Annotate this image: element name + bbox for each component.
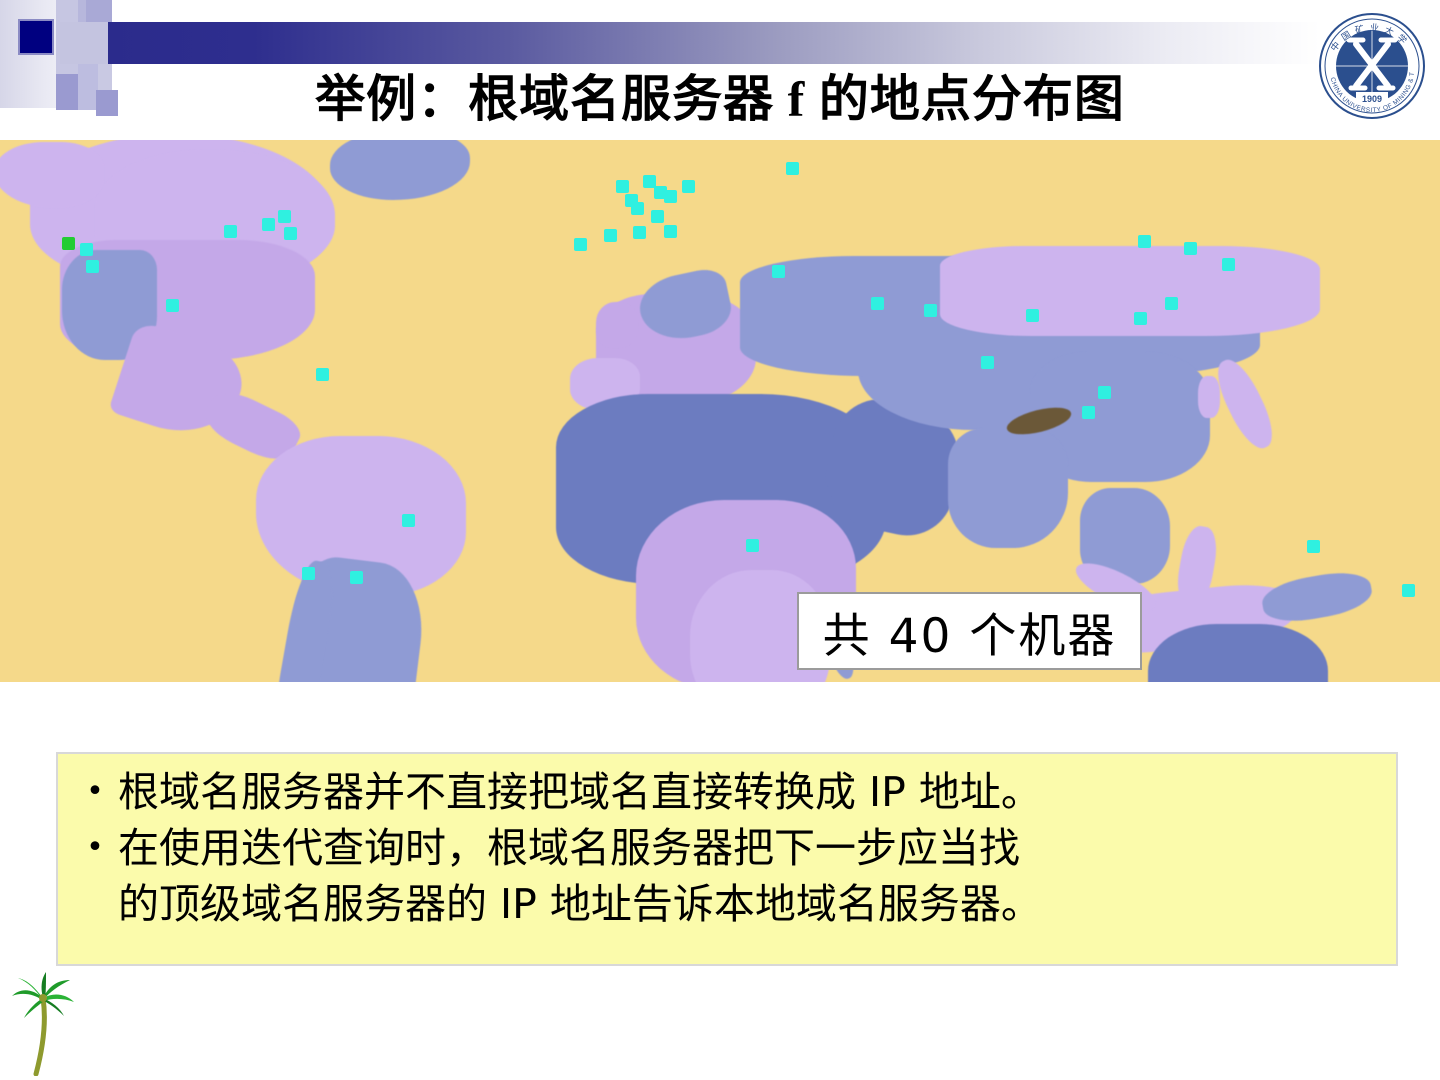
- server-marker: [316, 368, 329, 381]
- server-marker: [682, 180, 695, 193]
- server-marker: [871, 297, 884, 310]
- bullet-line: 根域名服务器并不直接把域名直接转换成 IP 地址。: [118, 764, 1382, 820]
- bullet-list-box: •根域名服务器并不直接把域名直接转换成 IP 地址。•在使用迭代查询时，根域名服…: [56, 752, 1398, 966]
- server-marker: [278, 210, 291, 223]
- server-marker: [166, 299, 179, 312]
- landmass-siberia: [940, 246, 1320, 336]
- bullet-item: •在使用迭代查询时，根域名服务器把下一步应当找的顶级域名服务器的 IP 地址告诉…: [72, 820, 1382, 932]
- server-marker: [1026, 309, 1039, 322]
- server-marker: [1082, 406, 1095, 419]
- server-marker: [224, 225, 237, 238]
- landmass-british-isles: [596, 302, 638, 348]
- palm-tree-icon: [10, 972, 80, 1076]
- server-marker: [1402, 584, 1415, 597]
- server-marker: [651, 210, 664, 223]
- server-marker: [616, 180, 629, 193]
- server-marker: [746, 539, 759, 552]
- server-marker: [1138, 235, 1151, 248]
- bullet-text: 在使用迭代查询时，根域名服务器把下一步应当找的顶级域名服务器的 IP 地址告诉本…: [118, 820, 1382, 932]
- bullet-line: 在使用迭代查询时，根域名服务器把下一步应当找: [118, 820, 1382, 876]
- server-marker: [1134, 312, 1147, 325]
- server-marker: [62, 237, 75, 250]
- header-gradient-bar: [108, 22, 1320, 64]
- page-title: 举例：根域名服务器 f 的地点分布图: [0, 68, 1440, 130]
- server-marker: [1165, 297, 1178, 310]
- machine-count-label: 共 40 个机器: [823, 597, 1117, 666]
- server-marker: [1098, 386, 1111, 399]
- server-marker: [1184, 242, 1197, 255]
- server-marker: [664, 190, 677, 203]
- server-marker: [402, 514, 415, 527]
- bullet-marker-icon: •: [72, 764, 118, 820]
- bullet-text: 根域名服务器并不直接把域名直接转换成 IP 地址。: [118, 764, 1382, 820]
- machine-count-callout: 共 40 个机器: [797, 592, 1142, 670]
- server-marker: [262, 218, 275, 231]
- server-marker: [1307, 540, 1320, 553]
- bullet-line: 的顶级域名服务器的 IP 地址告诉本地域名服务器。: [118, 876, 1382, 932]
- server-marker: [625, 194, 638, 207]
- server-marker: [350, 571, 363, 584]
- bullet-item: •根域名服务器并不直接把域名直接转换成 IP 地址。: [72, 764, 1382, 820]
- server-marker: [772, 265, 785, 278]
- bullet-list: •根域名服务器并不直接把域名直接转换成 IP 地址。•在使用迭代查询时，根域名服…: [72, 764, 1382, 932]
- server-marker: [284, 227, 297, 240]
- server-marker: [981, 356, 994, 369]
- server-marker: [924, 304, 937, 317]
- server-marker: [1222, 258, 1235, 271]
- landmass-australia: [1148, 624, 1328, 682]
- server-marker: [604, 229, 617, 242]
- server-marker: [302, 567, 315, 580]
- bullet-marker-icon: •: [72, 820, 118, 876]
- landmass-alaska: [0, 142, 104, 208]
- server-marker: [86, 260, 99, 273]
- server-marker: [786, 162, 799, 175]
- server-marker: [574, 238, 587, 251]
- server-marker: [664, 225, 677, 238]
- landmass-india: [948, 428, 1068, 548]
- header-square-mid: [60, 22, 112, 64]
- landmass-korea: [1198, 376, 1220, 418]
- header-square-accent: [86, 0, 112, 22]
- presentation-slide: 1909 CHINA UNIVERSITY OF MINING & TECHNO…: [0, 0, 1440, 1080]
- server-marker: [633, 226, 646, 239]
- server-marker: [80, 243, 93, 256]
- landmass-greenland: [330, 140, 470, 200]
- world-map: 共 40 个机器: [0, 140, 1440, 682]
- landmass-new-guinea: [1259, 567, 1375, 627]
